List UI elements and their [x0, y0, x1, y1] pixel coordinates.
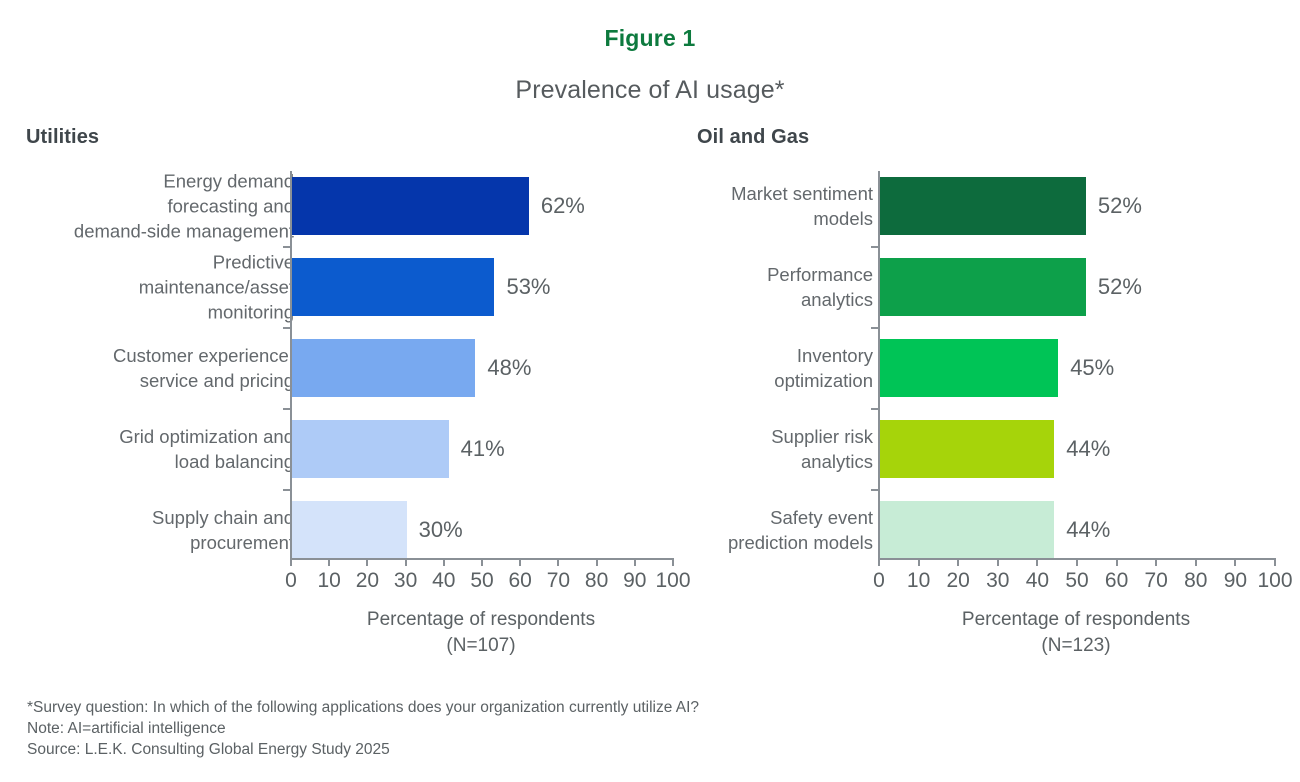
bar: [292, 258, 494, 316]
bar-row: Predictivemaintenance/assetmonitoring53%: [26, 258, 676, 316]
y-axis-tick: [871, 408, 878, 410]
chart-oil-and-gas: Market sentimentmodels52%Performanceanal…: [697, 177, 1292, 583]
x-axis-tick: [1155, 558, 1157, 566]
x-axis-tick-label: 60: [509, 569, 532, 593]
bar-category-label-line: procurement: [34, 530, 294, 555]
figure-subtitle: Prevalence of AI usage*: [0, 76, 1300, 105]
x-axis-tick: [1116, 558, 1118, 566]
x-axis-tick: [290, 558, 292, 566]
bar-category-label-line: Predictive: [34, 250, 294, 275]
x-axis-tick: [957, 558, 959, 566]
x-axis-tick-label: 0: [285, 569, 297, 593]
x-axis-title-text: Percentage of respondents: [290, 607, 672, 633]
bar-value-label: 44%: [1066, 517, 1110, 543]
bar-category-label: Performanceanalytics: [623, 262, 873, 312]
x-axis-tick: [596, 558, 598, 566]
x-axis-tick: [405, 558, 407, 566]
x-axis-tick-label: 30: [394, 569, 417, 593]
figure-title: Figure 1: [0, 25, 1300, 52]
x-axis-tick-label: 30: [986, 569, 1009, 593]
x-axis-tick: [878, 558, 880, 566]
x-axis-tick: [519, 558, 521, 566]
bar: [880, 258, 1086, 316]
y-axis-tick: [283, 489, 290, 491]
x-axis-tick-label: 50: [470, 569, 493, 593]
bar: [880, 339, 1058, 397]
x-axis-tick-label: 70: [547, 569, 570, 593]
bar-row: Grid optimization andload balancing41%: [26, 420, 676, 478]
bar-category-label-line: optimization: [623, 368, 873, 393]
bar-category-label-line: Performance: [623, 262, 873, 287]
bar-category-label: Energy demandforecasting anddemand-side …: [34, 169, 294, 244]
x-axis-sample-size: (N=107): [290, 633, 672, 659]
panel-heading-oil-and-gas: Oil and Gas: [697, 126, 1292, 154]
x-axis-tick-label: 80: [1184, 569, 1207, 593]
x-axis-tick-label: 60: [1105, 569, 1128, 593]
y-axis-tick: [283, 408, 290, 410]
bar-row: Safety eventprediction models44%: [697, 501, 1292, 559]
bar: [292, 177, 529, 235]
bar-value-label: 44%: [1066, 436, 1110, 462]
bar-row: Inventoryoptimization45%: [697, 339, 1292, 397]
x-axis-title: Percentage of respondents (N=107): [290, 607, 672, 659]
bar: [880, 501, 1054, 559]
x-axis-tick: [1234, 558, 1236, 566]
bar-category-label: Safety eventprediction models: [623, 505, 873, 555]
bar-value-label: 52%: [1098, 274, 1142, 300]
bar-category-label-line: Inventory: [623, 343, 873, 368]
bar-value-label: 30%: [419, 517, 463, 543]
x-axis-tick: [634, 558, 636, 566]
bar: [292, 501, 407, 559]
x-axis-tick: [366, 558, 368, 566]
bar-row: Market sentimentmodels52%: [697, 177, 1292, 235]
panel-utilities: Utilities Energy demandforecasting andde…: [26, 126, 676, 583]
bar: [880, 177, 1086, 235]
y-axis-tick: [283, 246, 290, 248]
x-axis-tick: [997, 558, 999, 566]
bar-category-label-line: models: [623, 206, 873, 231]
panel-oil-and-gas: Oil and Gas Market sentimentmodels52%Per…: [697, 126, 1292, 583]
bar-value-label: 62%: [541, 193, 585, 219]
bar-category-label-line: maintenance/asset: [34, 275, 294, 300]
bar-value-label: 45%: [1070, 355, 1114, 381]
x-axis-tick: [481, 558, 483, 566]
x-axis-tick: [557, 558, 559, 566]
x-axis-tick: [328, 558, 330, 566]
x-axis-tick-label: 10: [318, 569, 341, 593]
bar-category-label-line: load balancing: [34, 449, 294, 474]
bar: [880, 420, 1054, 478]
x-axis-tick-label: 100: [655, 569, 690, 593]
x-axis-tick: [1036, 558, 1038, 566]
bar-category-label-line: Market sentiment: [623, 181, 873, 206]
x-axis-tick: [672, 558, 674, 566]
bar-value-label: 53%: [506, 274, 550, 300]
bar-category-label: Supplier riskanalytics: [623, 424, 873, 474]
x-axis-tick: [1195, 558, 1197, 566]
bar-value-label: 48%: [487, 355, 531, 381]
footnote-source: Source: L.E.K. Consulting Global Energy …: [27, 739, 699, 760]
bar: [292, 339, 475, 397]
bar-row: Energy demandforecasting anddemand-side …: [26, 177, 676, 235]
x-axis-tick-label: 20: [356, 569, 379, 593]
y-axis-line: [290, 171, 292, 558]
bar-category-label-line: prediction models: [623, 530, 873, 555]
bar-category-label: Supply chain andprocurement: [34, 505, 294, 555]
x-axis-title-text: Percentage of respondents: [878, 607, 1274, 633]
y-axis-tick: [871, 327, 878, 329]
bar-category-label-line: analytics: [623, 287, 873, 312]
x-axis-tick-label: 50: [1065, 569, 1088, 593]
bar-value-label: 41%: [461, 436, 505, 462]
footnotes: *Survey question: In which of the follow…: [27, 697, 699, 760]
bar-category-label-line: analytics: [623, 449, 873, 474]
x-axis-tick-label: 80: [585, 569, 608, 593]
bar-category-label: Inventoryoptimization: [623, 343, 873, 393]
y-axis-tick: [283, 327, 290, 329]
bar: [292, 420, 449, 478]
bar-category-label-line: monitoring: [34, 300, 294, 325]
bar-rows-utilities: Energy demandforecasting anddemand-side …: [26, 177, 676, 583]
bar-row: Performanceanalytics52%: [697, 258, 1292, 316]
bar-row: Supplier riskanalytics44%: [697, 420, 1292, 478]
y-axis-line: [878, 171, 880, 558]
x-axis-tick-label: 70: [1145, 569, 1168, 593]
bar-category-label-line: Grid optimization and: [34, 424, 294, 449]
bar-category-label: Predictivemaintenance/assetmonitoring: [34, 250, 294, 325]
x-axis-title: Percentage of respondents (N=123): [878, 607, 1274, 659]
x-axis-tick-label: 100: [1257, 569, 1292, 593]
bar-category-label-line: forecasting and: [34, 194, 294, 219]
bar-value-label: 52%: [1098, 193, 1142, 219]
bar-category-label: Market sentimentmodels: [623, 181, 873, 231]
bar-category-label-line: Safety event: [623, 505, 873, 530]
x-axis-tick: [1076, 558, 1078, 566]
x-axis-tick: [918, 558, 920, 566]
bar-category-label-line: Energy demand: [34, 169, 294, 194]
x-axis-tick-label: 90: [1224, 569, 1247, 593]
bar-category-label-line: Supply chain and: [34, 505, 294, 530]
x-axis-tick-label: 40: [1026, 569, 1049, 593]
y-axis-tick: [871, 246, 878, 248]
x-axis-tick-label: 20: [947, 569, 970, 593]
x-axis-tick-label: 0: [873, 569, 885, 593]
x-axis-tick-label: 10: [907, 569, 930, 593]
bar-row: Customer experience,service and pricing4…: [26, 339, 676, 397]
x-axis-tick-label: 90: [623, 569, 646, 593]
footnote-survey-question: *Survey question: In which of the follow…: [27, 697, 699, 718]
x-axis-tick-label: 40: [432, 569, 455, 593]
bar-rows-oil-and-gas: Market sentimentmodels52%Performanceanal…: [697, 177, 1292, 583]
x-axis-sample-size: (N=123): [878, 633, 1274, 659]
chart-utilities: Energy demandforecasting anddemand-side …: [26, 177, 676, 583]
y-axis-tick: [871, 489, 878, 491]
footnote-note: Note: AI=artificial intelligence: [27, 718, 699, 739]
x-axis-tick: [443, 558, 445, 566]
bar-category-label: Customer experience,service and pricing: [34, 343, 294, 393]
bar-row: Supply chain andprocurement30%: [26, 501, 676, 559]
bar-category-label-line: Supplier risk: [623, 424, 873, 449]
x-axis-tick: [1274, 558, 1276, 566]
bar-category-label-line: Customer experience,: [34, 343, 294, 368]
panel-heading-utilities: Utilities: [26, 126, 676, 154]
bar-category-label: Grid optimization andload balancing: [34, 424, 294, 474]
bar-category-label-line: service and pricing: [34, 368, 294, 393]
bar-category-label-line: demand-side management: [34, 219, 294, 244]
